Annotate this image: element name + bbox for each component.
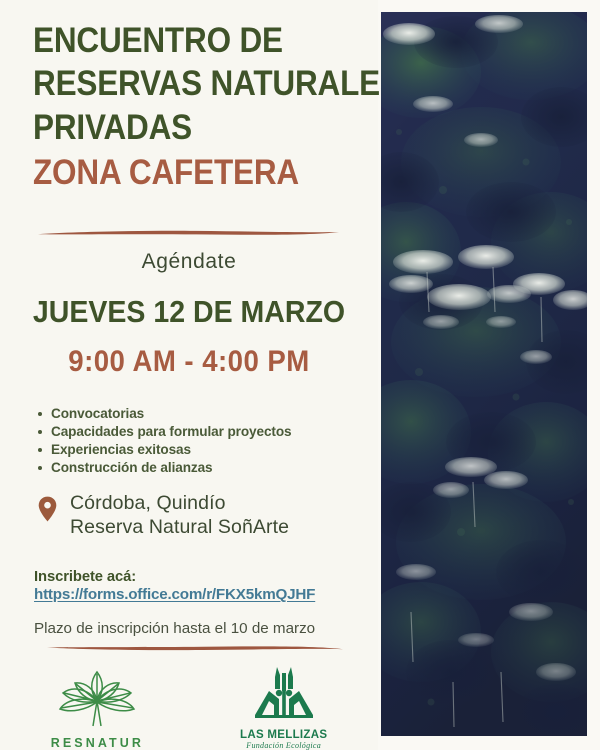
headline-subtitle: Zona Cafetera [33,156,330,190]
event-poster: Encuentro de Reservas Naturales Privadas… [0,0,600,750]
headline-line-1: Encuentro de [33,24,330,58]
event-time: 9:00 AM - 4:00 PM [15,345,363,379]
logo-las-mellizas-label: LAS MELLIZAS [240,729,327,741]
location-line-1: Córdoba, Quindío [70,492,226,514]
list-item: Construcción de alianzas [36,459,376,477]
logo-resnatur-label: RESNATUR [51,736,144,750]
signup-label: Inscribete acá: [34,569,315,585]
content-panel: Encuentro de Reservas Naturales Privadas… [0,0,378,750]
event-date: Jueves 12 de marzo [15,294,363,330]
resnatur-leaf-rosette-icon [54,670,140,733]
deadline-text: Plazo de inscripción hasta el 10 de marz… [34,620,315,637]
las-mellizas-pyramid-icon [249,665,319,728]
list-item: Capacidades para formular proyectos [36,423,376,441]
location-text: Córdoba, Quindío Reserva Natural SoñArte [70,492,289,540]
headline-line-2: Reservas Naturales [33,67,330,101]
location-block: Córdoba, Quindío Reserva Natural SoñArte [38,492,289,540]
brush-divider-top-icon [36,228,341,238]
logo-las-mellizas-tagline: Fundación Ecológica [246,741,321,750]
location-line-2: Reserva Natural SoñArte [70,516,289,538]
brush-divider-bottom-icon [45,643,345,653]
list-item: Experiencias exitosas [36,441,376,459]
list-item: Convocatorias [36,405,376,423]
page-title: Encuentro de Reservas Naturales Privadas… [33,24,363,190]
forest-photograph [381,12,587,736]
agendate-label: Agéndate [0,250,378,274]
topics-list: Convocatorias Capacidades para formular … [36,405,376,477]
headline-line-3: Privadas [33,111,330,145]
map-pin-icon [38,496,57,527]
logos-row: RESNATUR [0,665,378,750]
logo-resnatur: RESNATUR [51,670,144,750]
signup-block: Inscribete acá: https://forms.office.com… [34,569,315,604]
logo-las-mellizas: LAS MELLIZAS Fundación Ecológica [240,665,327,750]
signup-link[interactable]: https://forms.office.com/r/FKX5kmQJHF [34,586,315,603]
